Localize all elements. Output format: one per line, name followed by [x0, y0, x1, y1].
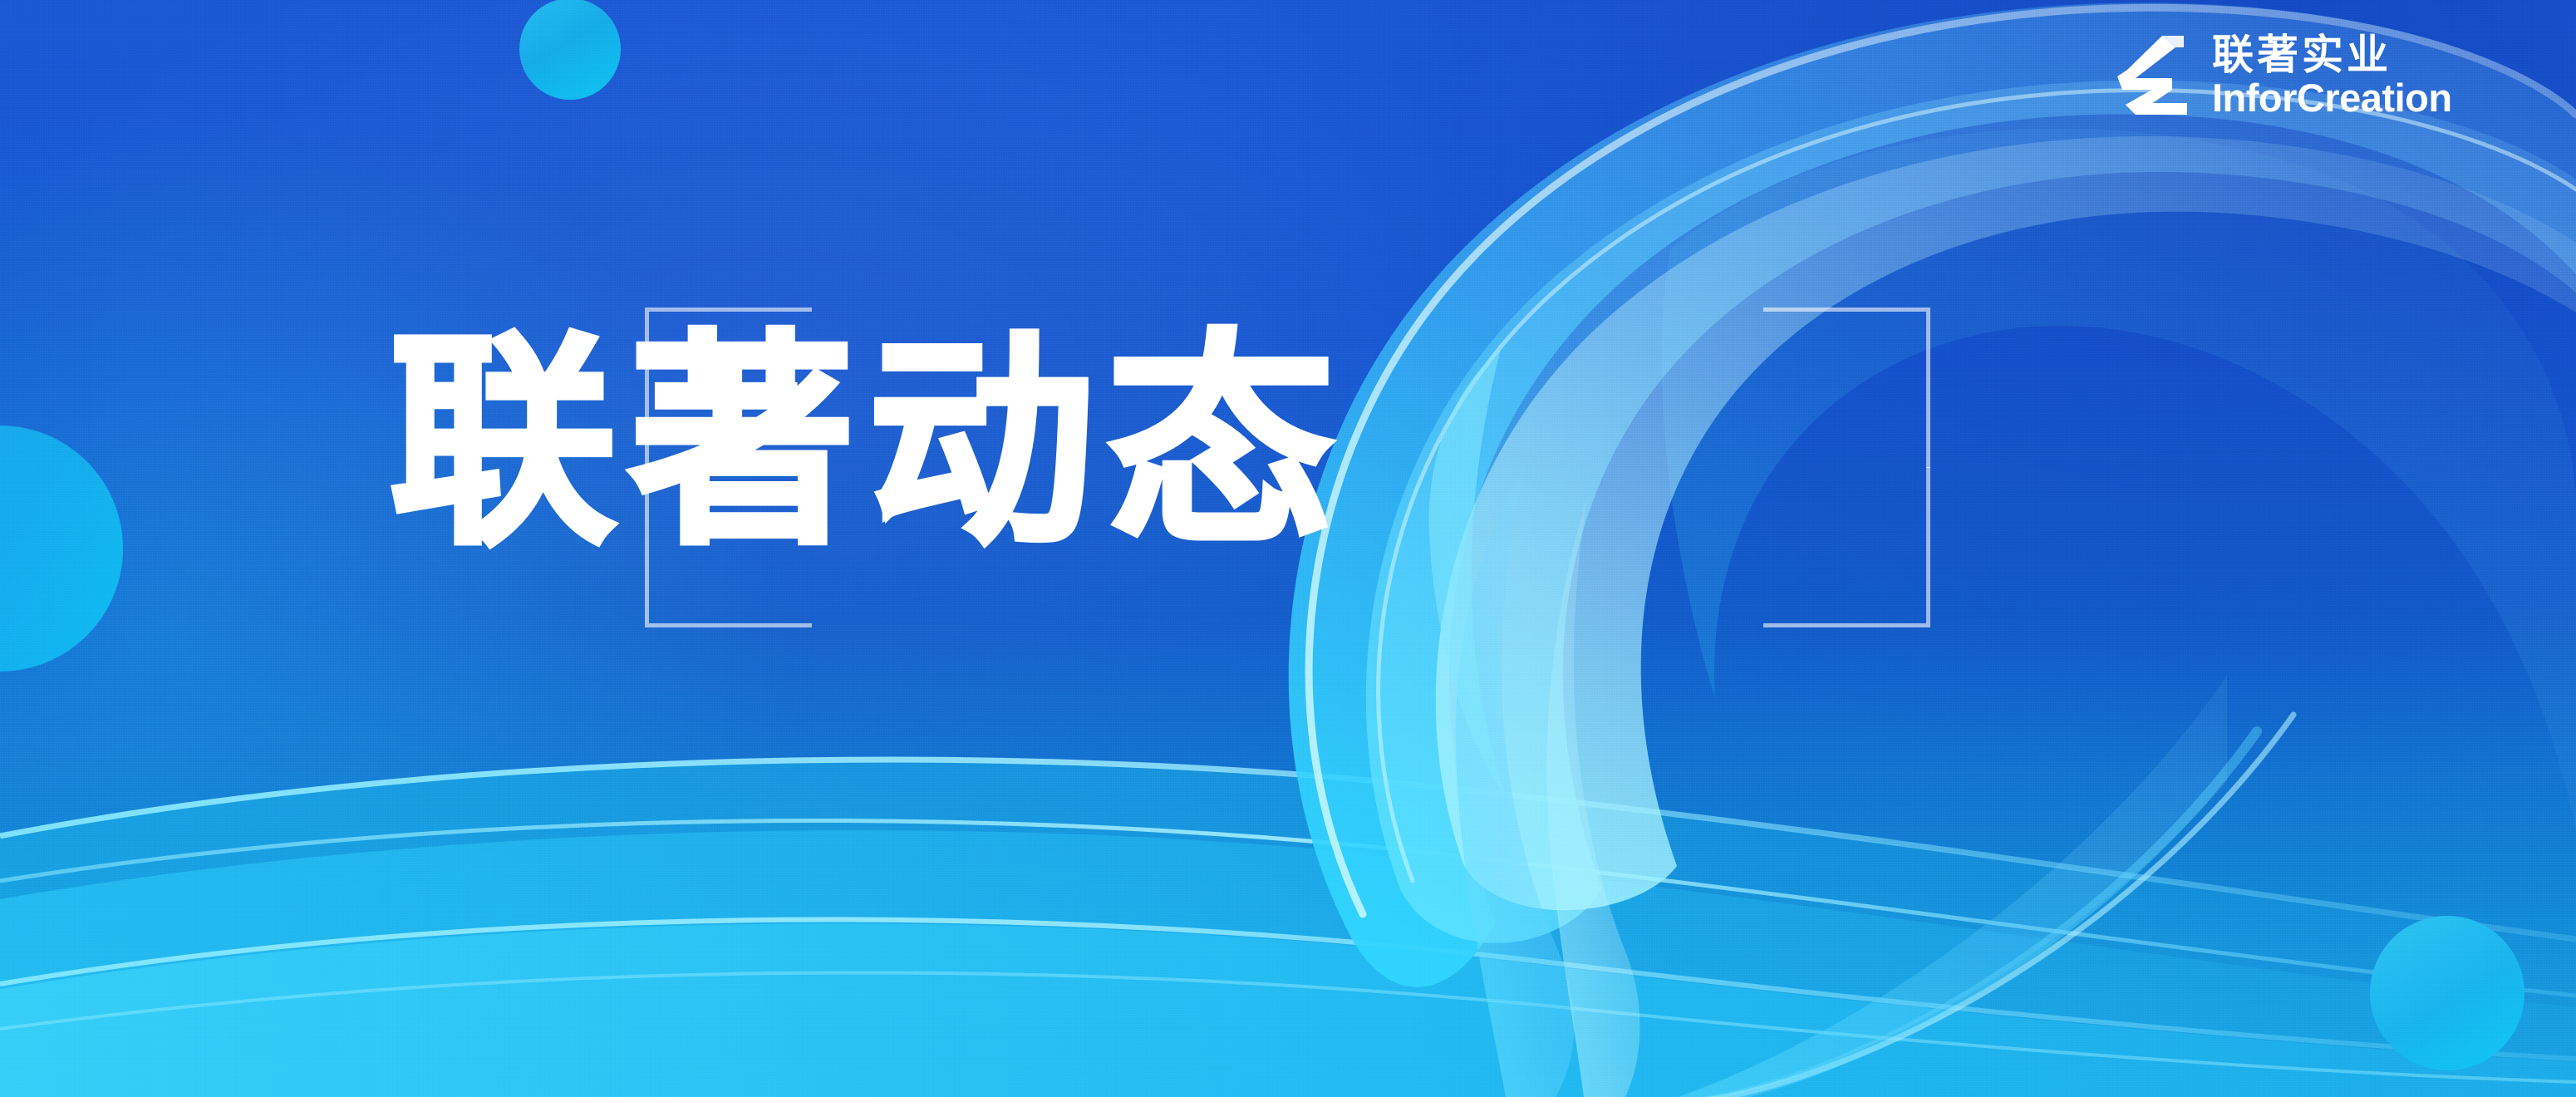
- background-grain-overlay: [0, 0, 2576, 1097]
- news-banner: 联著动态 联著实业 InforCreation: [0, 0, 2576, 1097]
